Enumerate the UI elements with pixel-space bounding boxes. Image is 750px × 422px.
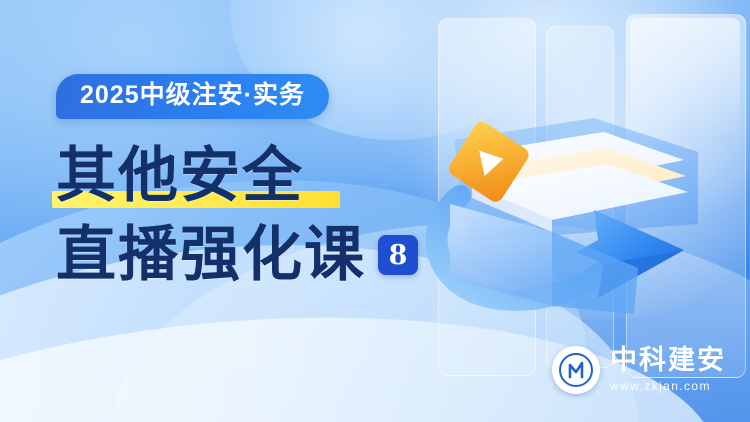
banner-copy: 2025中级注安·实务 其他安全 直播强化课 8 <box>56 74 456 291</box>
headline-line-1: 其他安全 <box>56 141 304 211</box>
course-tag-pill: 2025中级注安·实务 <box>56 74 329 119</box>
brand-logo: 中科建安 www.zkjan.com <box>552 346 726 394</box>
headline-row-2: 直播强化课 8 <box>56 220 456 291</box>
logo-text-block: 中科建安 www.zkjan.com <box>610 347 726 393</box>
headline-row-1: 其他安全 <box>56 141 456 212</box>
logo-emblem-icon <box>552 346 600 394</box>
headline-line-2: 直播强化课 <box>56 220 366 291</box>
episode-number-badge: 8 <box>378 235 418 275</box>
logo-brand-name: 中科建安 <box>610 347 726 375</box>
course-promo-banner: 2025中级注安·实务 其他安全 直播强化课 8 中科建安 www.zkjan.… <box>0 0 750 422</box>
headline-block: 其他安全 直播强化课 8 <box>56 141 456 291</box>
logo-website-url: www.zkjan.com <box>610 379 726 393</box>
